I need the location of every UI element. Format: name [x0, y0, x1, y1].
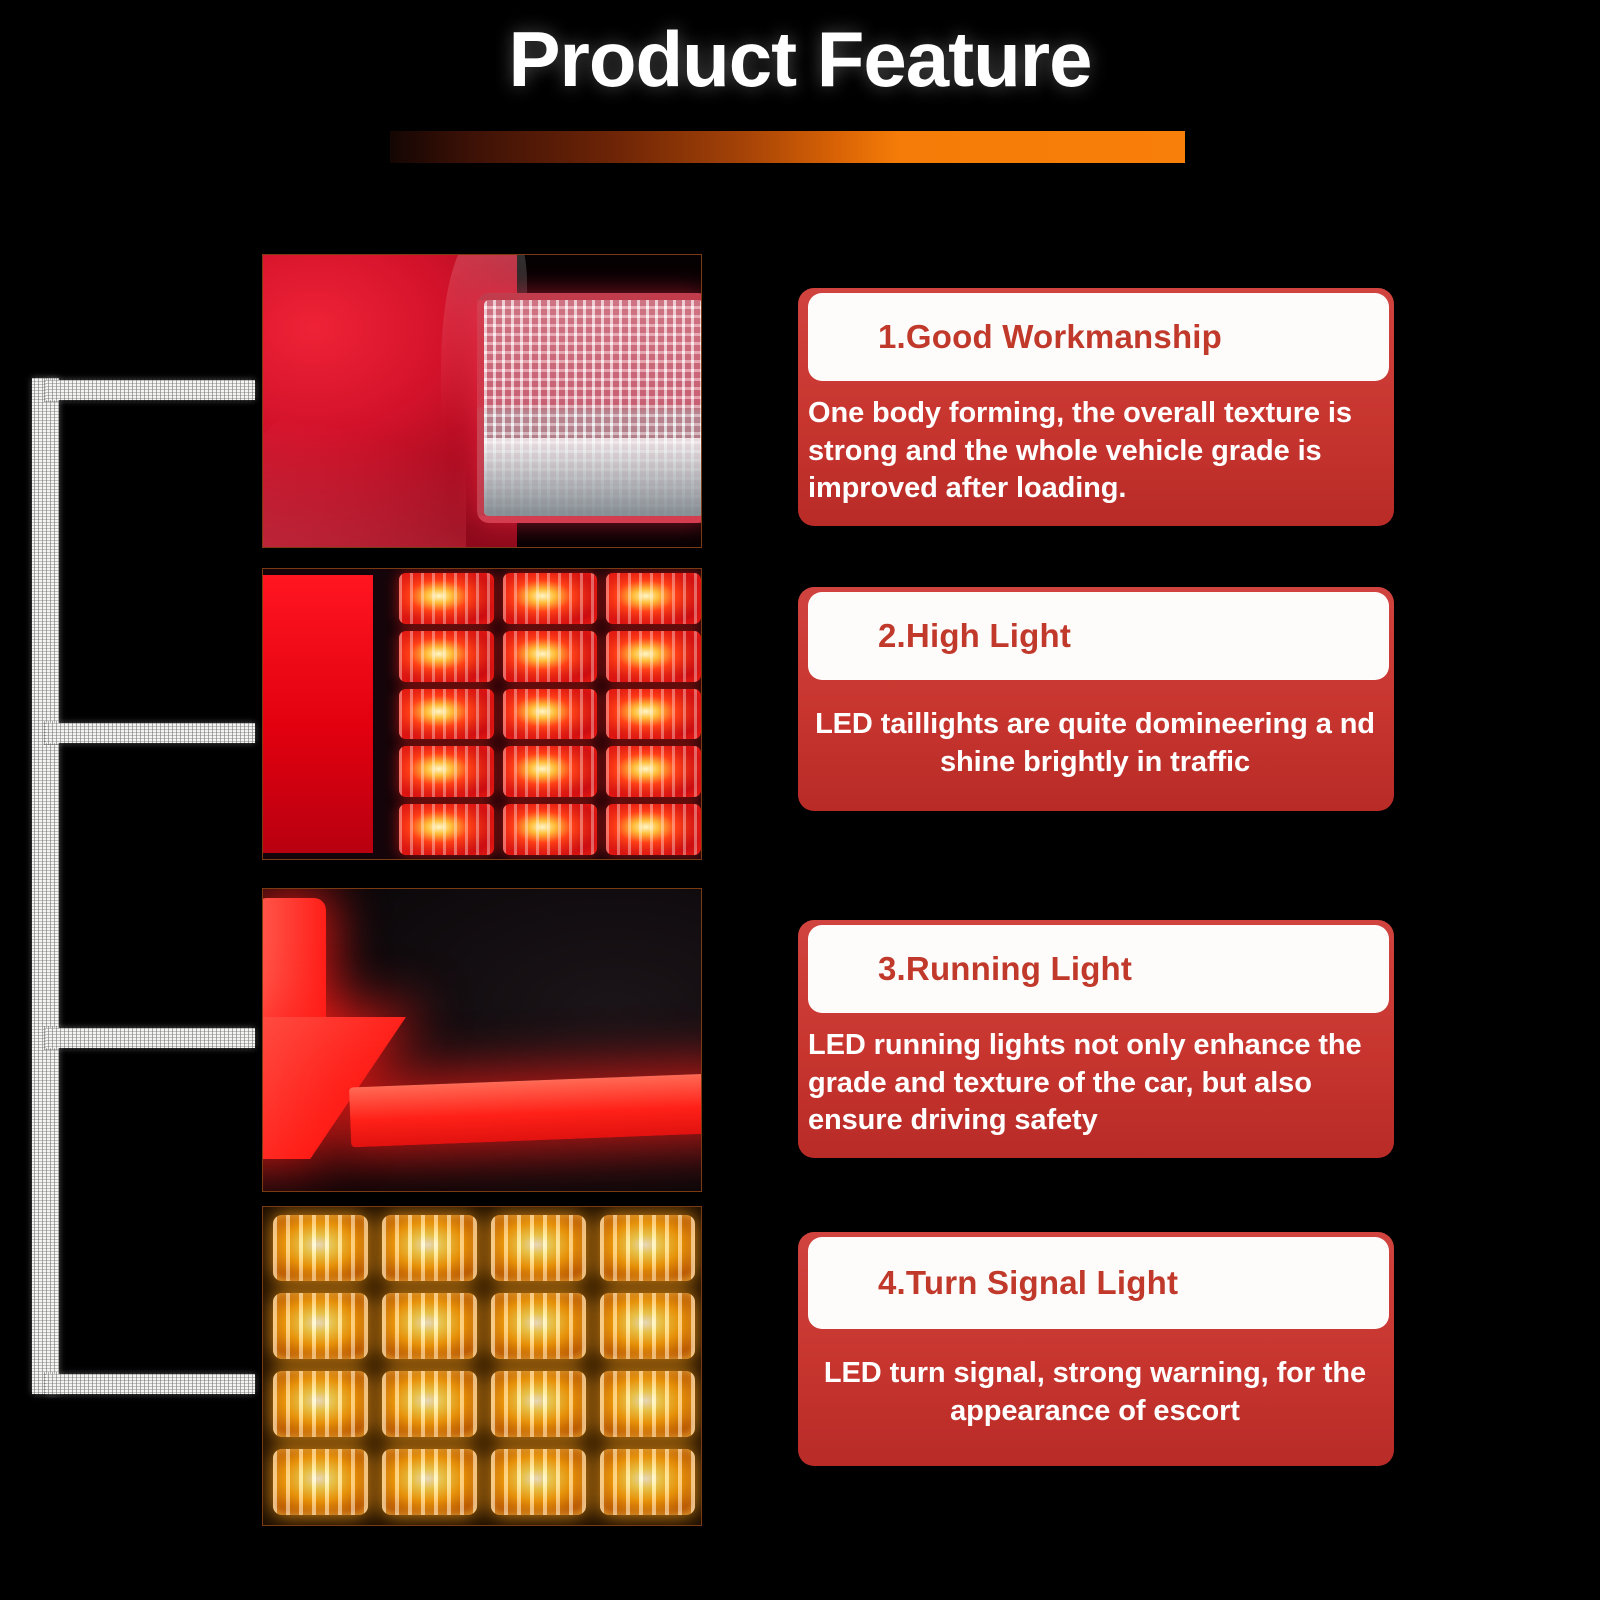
led-cell	[399, 631, 494, 682]
product-feature-page: Product Feature	[0, 0, 1600, 1600]
red-led-grid	[399, 569, 701, 859]
led-cell	[606, 631, 701, 682]
feature-card-3-body: LED running lights not only enhance the …	[798, 1013, 1394, 1158]
running-light-bar	[262, 898, 702, 1182]
led-cell	[491, 1293, 586, 1359]
led-cell	[491, 1215, 586, 1281]
led-cell	[399, 689, 494, 740]
feature-card-2-title: 2.High Light	[808, 617, 1071, 655]
led-cell	[606, 804, 701, 855]
feature-card-4-body: LED turn signal, strong warning, for the…	[798, 1329, 1394, 1466]
bracket-arm-1	[46, 380, 255, 400]
clear-reflector	[477, 293, 702, 523]
red-lens-panel	[263, 575, 373, 853]
led-cell	[382, 1449, 477, 1515]
led-cell	[273, 1371, 368, 1437]
chalk-bracket	[0, 0, 300, 1600]
led-cell	[503, 804, 598, 855]
led-cell	[606, 573, 701, 624]
led-cell	[503, 689, 598, 740]
light-bar-horizontal	[349, 1072, 702, 1146]
led-cell	[273, 1449, 368, 1515]
bracket-arm-2	[46, 723, 255, 743]
led-cell	[399, 804, 494, 855]
led-cell	[273, 1293, 368, 1359]
feature-card-1-title: 1.Good Workmanship	[808, 318, 1222, 356]
feature-card-3-title: 3.Running Light	[808, 950, 1132, 988]
led-cell	[491, 1449, 586, 1515]
feature-card-2-header: 2.High Light	[808, 592, 1389, 680]
led-cell	[382, 1293, 477, 1359]
led-cell	[600, 1215, 695, 1281]
photo-high-light	[262, 568, 702, 860]
feature-card-2-body: LED taillights are quite domineering a n…	[798, 680, 1394, 811]
bracket-arm-4	[46, 1374, 255, 1394]
feature-card-3: 3.Running Light LED running lights not o…	[798, 920, 1394, 1158]
led-cell	[491, 1371, 586, 1437]
feature-card-4-header: 4.Turn Signal Light	[808, 1237, 1389, 1329]
led-cell	[382, 1215, 477, 1281]
feature-card-1-body: One body forming, the overall texture is…	[798, 381, 1394, 526]
bracket-spine	[32, 378, 59, 1394]
feature-card-2: 2.High Light LED taillights are quite do…	[798, 587, 1394, 811]
led-cell	[382, 1371, 477, 1437]
feature-card-4: 4.Turn Signal Light LED turn signal, str…	[798, 1232, 1394, 1466]
photo-good-workmanship	[262, 254, 702, 548]
led-cell	[606, 746, 701, 797]
feature-card-3-header: 3.Running Light	[808, 925, 1389, 1013]
amber-led-grid	[273, 1215, 695, 1515]
led-cell	[399, 573, 494, 624]
led-cell	[606, 689, 701, 740]
title-accent-bar	[390, 131, 1185, 163]
led-cell	[273, 1215, 368, 1281]
photo-running-light	[262, 888, 702, 1192]
led-cell	[503, 746, 598, 797]
led-cell	[600, 1293, 695, 1359]
led-cell	[503, 631, 598, 682]
bracket-arm-3	[46, 1028, 255, 1048]
feature-card-1-header: 1.Good Workmanship	[808, 293, 1389, 381]
feature-card-1: 1.Good Workmanship One body forming, the…	[798, 288, 1394, 526]
led-cell	[600, 1371, 695, 1437]
feature-card-4-title: 4.Turn Signal Light	[808, 1264, 1178, 1302]
led-cell	[399, 746, 494, 797]
led-cell	[503, 573, 598, 624]
photo-turn-signal-light	[262, 1206, 702, 1526]
led-cell	[600, 1449, 695, 1515]
